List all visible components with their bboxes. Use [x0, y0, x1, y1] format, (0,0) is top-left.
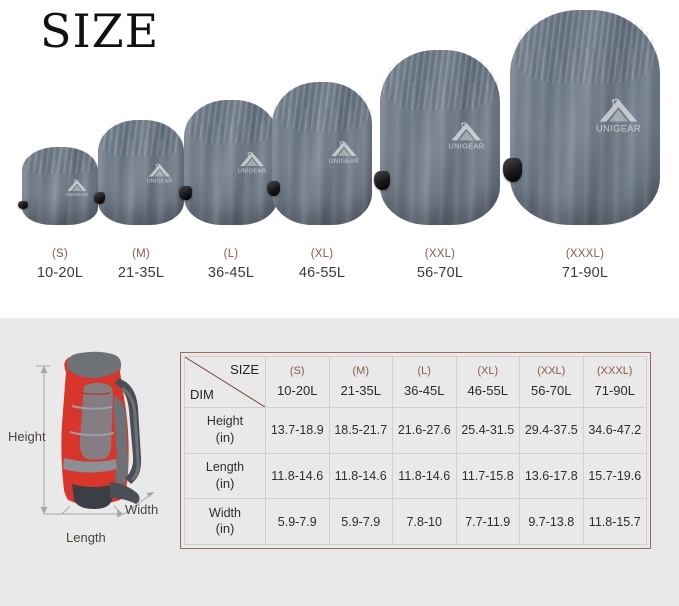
rain-cover-shape: UNIGEAR [510, 10, 660, 225]
bag-size-label: (XXXL) [510, 248, 660, 260]
table-row: Height(in)13.7-18.918.5-21.721.6-27.625.… [185, 408, 647, 454]
dimension-label-length: Length [66, 530, 106, 545]
table-cell: 5.9-7.9 [266, 499, 330, 545]
column-size-label: (XXXL) [586, 363, 645, 381]
unigear-logo-icon: UNIGEAR [327, 139, 361, 165]
table-cell: 7.8-10 [393, 499, 457, 545]
rain-cover-shape: UNIGEAR [22, 147, 98, 225]
cord-lock-buckle-icon [374, 171, 390, 190]
bag-capacity-label: 56-70L [380, 265, 500, 281]
column-size-label: (XXL) [522, 363, 581, 381]
size-table-container: SIZEDIM(S)10-20L(M)21-35L(L)36-45L(XL)46… [180, 352, 651, 549]
table-cell: 11.8-14.6 [266, 453, 330, 499]
row-label: Width [209, 506, 241, 520]
corner-dim-label: DIM [190, 387, 214, 402]
unigear-logo-icon: UNIGEAR [446, 120, 487, 151]
table-column-header: (M)21-35L [329, 357, 393, 408]
column-capacity-label: 71-90L [586, 381, 645, 401]
bag-column: UNIGEAR(XL)46-55L [272, 0, 372, 298]
backpack-dimension-diagram: Height Length Width [6, 334, 171, 552]
rain-cover-image: UNIGEAR [272, 82, 372, 225]
corner-size-label: SIZE [230, 362, 259, 377]
table-cell: 5.9-7.9 [329, 499, 393, 545]
row-unit: (in) [187, 521, 263, 537]
cord-lock-buckle-icon [267, 181, 280, 197]
size-table-section: Height Length Width SIZEDIM(S)10-20L(M)2… [0, 318, 679, 606]
column-capacity-label: 56-70L [522, 381, 581, 401]
rain-cover-image: UNIGEAR [380, 50, 500, 225]
size-table: SIZEDIM(S)10-20L(M)21-35L(L)36-45L(XL)46… [184, 356, 647, 545]
cord-lock-buckle-icon [179, 186, 191, 200]
table-cell: 29.4-37.5 [520, 408, 584, 454]
table-cell: 25.4-31.5 [456, 408, 520, 454]
unigear-logo-icon: UNIGEAR [145, 162, 174, 184]
bag-size-label: (XL) [272, 248, 372, 260]
bag-lineup: UNIGEAR(S)10-20LUNIGEAR(M)21-35LUNIGEAR(… [0, 0, 679, 298]
dimension-label-height: Height [8, 429, 46, 444]
unigear-logo-icon: UNIGEAR [236, 150, 268, 174]
column-size-label: (M) [332, 363, 391, 381]
rain-cover-shape: UNIGEAR [184, 100, 278, 225]
table-cell: 7.7-11.9 [456, 499, 520, 545]
svg-text:UNIGEAR: UNIGEAR [596, 124, 641, 134]
table-row-header: Width(in) [185, 499, 266, 545]
bag-capacity-label: 46-55L [272, 265, 372, 281]
table-row: Length(in)11.8-14.611.8-14.611.8-14.611.… [185, 453, 647, 499]
table-header-row: SIZEDIM(S)10-20L(M)21-35L(L)36-45L(XL)46… [185, 357, 647, 408]
bag-size-label: (S) [22, 248, 98, 260]
bag-column: UNIGEAR(XXL)56-70L [380, 0, 500, 298]
svg-text:UNIGEAR: UNIGEAR [65, 192, 88, 198]
rain-cover-image: UNIGEAR [510, 10, 660, 225]
table-cell: 21.6-27.6 [393, 408, 457, 454]
svg-text:UNIGEAR: UNIGEAR [329, 158, 359, 165]
bag-capacity-label: 36-45L [184, 265, 278, 281]
table-column-header: (L)36-45L [393, 357, 457, 408]
bag-size-label: (XXL) [380, 248, 500, 260]
column-capacity-label: 21-35L [332, 381, 391, 401]
table-cell: 18.5-21.7 [329, 408, 393, 454]
bag-capacity-label: 21-35L [98, 265, 184, 281]
table-cell: 34.6-47.2 [583, 408, 647, 454]
row-label: Height [207, 414, 243, 428]
rain-cover-image: UNIGEAR [184, 100, 278, 225]
table-cell: 11.7-15.8 [456, 453, 520, 499]
rain-cover-shape: UNIGEAR [98, 120, 184, 225]
cord-lock-buckle-icon [94, 192, 105, 204]
table-cell: 11.8-14.6 [393, 453, 457, 499]
column-size-label: (XL) [459, 363, 518, 381]
column-capacity-label: 10-20L [268, 381, 327, 401]
column-capacity-label: 46-55L [459, 381, 518, 401]
cord-lock-buckle-icon [503, 158, 523, 182]
bag-size-label: (L) [184, 248, 278, 260]
row-unit: (in) [187, 476, 263, 492]
row-unit: (in) [187, 430, 263, 446]
bag-size-label: (M) [98, 248, 184, 260]
svg-text:UNIGEAR: UNIGEAR [238, 168, 266, 174]
table-column-header: (XXL)56-70L [520, 357, 584, 408]
table-row-header: Height(in) [185, 408, 266, 454]
rain-cover-image: UNIGEAR [22, 147, 98, 225]
table-column-header: (XXXL)71-90L [583, 357, 647, 408]
table-cell: 9.7-13.8 [520, 499, 584, 545]
table-corner-cell: SIZEDIM [185, 357, 266, 408]
table-column-header: (XL)46-55L [456, 357, 520, 408]
bag-column: UNIGEAR(S)10-20L [22, 0, 98, 298]
rain-cover-image: UNIGEAR [98, 120, 184, 225]
rain-cover-shape: UNIGEAR [380, 50, 500, 225]
table-cell: 11.8-14.6 [329, 453, 393, 499]
table-row-header: Length(in) [185, 453, 266, 499]
table-cell: 13.7-18.9 [266, 408, 330, 454]
svg-text:UNIGEAR: UNIGEAR [147, 178, 173, 184]
table-column-header: (S)10-20L [266, 357, 330, 408]
bag-column: UNIGEAR(M)21-35L [98, 0, 184, 298]
bag-capacity-label: 71-90L [510, 265, 660, 281]
unigear-logo-icon: UNIGEAR [64, 178, 90, 198]
rain-cover-shape: UNIGEAR [272, 82, 372, 225]
column-size-label: (S) [268, 363, 327, 381]
column-capacity-label: 36-45L [395, 381, 454, 401]
size-overview-section: SIZE UNIGEAR(S)10-20LUNIGEAR(M)21-35LUNI… [0, 0, 679, 298]
bag-capacity-label: 10-20L [22, 265, 98, 281]
backpack-body [61, 352, 141, 514]
table-cell: 15.7-19.6 [583, 453, 647, 499]
bag-column: UNIGEAR(L)36-45L [184, 0, 278, 298]
unigear-logo-icon: UNIGEAR [593, 96, 644, 135]
table-cell: 13.6-17.8 [520, 453, 584, 499]
bag-column: UNIGEAR(XXXL)71-90L [510, 0, 660, 298]
svg-text:UNIGEAR: UNIGEAR [448, 142, 484, 151]
row-label: Length [206, 460, 244, 474]
table-row: Width(in)5.9-7.95.9-7.97.8-107.7-11.99.7… [185, 499, 647, 545]
column-size-label: (L) [395, 363, 454, 381]
dimension-label-width: Width [125, 502, 158, 517]
table-cell: 11.8-15.7 [583, 499, 647, 545]
